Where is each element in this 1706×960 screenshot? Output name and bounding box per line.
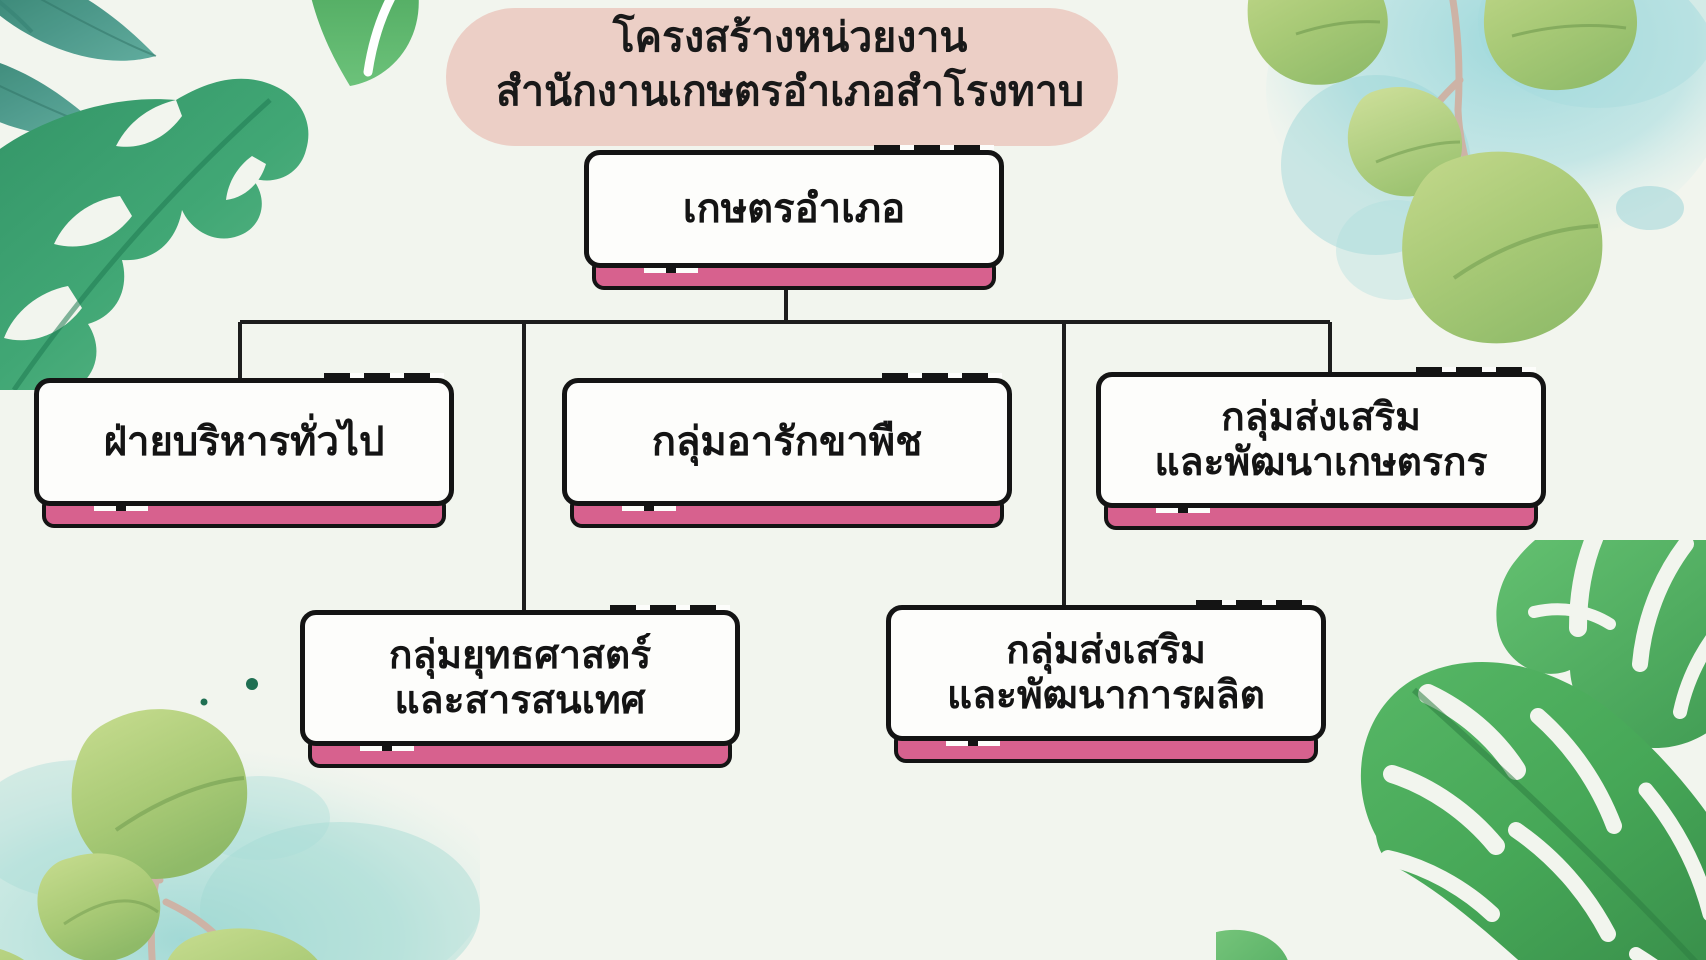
node-card: กลุ่มอารักขาพืช — [562, 378, 1012, 506]
org-chart-canvas: โครงสร้างหน่วยงาน สำนักงานเกษตรอำเภอสำโร… — [0, 0, 1706, 960]
node-dash-accent-bottom — [644, 268, 698, 273]
node-dash-accent-bottom — [360, 746, 414, 751]
node-card: กลุ่มส่งเสริม และพัฒนาการผลิต — [886, 605, 1326, 741]
org-node-admin[interactable]: ฝ่ายบริหารทั่วไป — [34, 378, 454, 528]
node-label: กลุ่มส่งเสริม และพัฒนาการผลิต — [933, 628, 1279, 718]
node-label: เกษตรอำเภอ — [669, 185, 919, 233]
node-card: เกษตรอำเภอ — [584, 150, 1004, 268]
org-node-production-development[interactable]: กลุ่มส่งเสริม และพัฒนาการผลิต — [886, 605, 1326, 763]
node-label: ฝ่ายบริหารทั่วไป — [90, 418, 399, 466]
node-dash-accent-top — [874, 145, 994, 150]
node-dash-accent-top — [882, 373, 1002, 378]
org-node-strategy-information[interactable]: กลุ่มยุทธศาสตร์ และสารสนเทศ — [300, 610, 740, 768]
node-card: ฝ่ายบริหารทั่วไป — [34, 378, 454, 506]
node-label: กลุ่มยุทธศาสตร์ และสารสนเทศ — [375, 633, 665, 723]
node-dash-accent-bottom — [946, 741, 1000, 746]
node-dash-accent-bottom — [622, 506, 676, 511]
node-dash-accent-top — [1196, 600, 1316, 605]
org-node-head[interactable]: เกษตรอำเภอ — [584, 150, 1004, 290]
node-dash-accent-top — [324, 373, 444, 378]
org-node-farmer-development[interactable]: กลุ่มส่งเสริม และพัฒนาเกษตรกร — [1096, 372, 1546, 530]
node-dash-accent-bottom — [94, 506, 148, 511]
node-label: กลุ่มอารักขาพืช — [638, 418, 937, 466]
node-label: กลุ่มส่งเสริม และพัฒนาเกษตรกร — [1141, 395, 1502, 485]
org-node-plant-protection[interactable]: กลุ่มอารักขาพืช — [562, 378, 1012, 528]
node-dash-accent-bottom — [1156, 508, 1210, 513]
node-card: กลุ่มยุทธศาสตร์ และสารสนเทศ — [300, 610, 740, 746]
node-dash-accent-top — [1416, 367, 1536, 372]
node-dash-accent-top — [610, 605, 730, 610]
node-card: กลุ่มส่งเสริม และพัฒนาเกษตรกร — [1096, 372, 1546, 508]
